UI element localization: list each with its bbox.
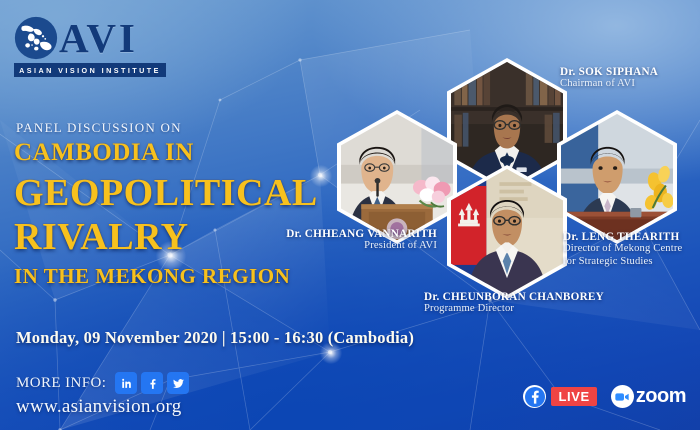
globe-icon (14, 16, 58, 60)
event-title: CAMBODIA IN GEOPOLITICAL RIVALRY IN THE … (14, 140, 334, 287)
speaker-photo-cheunboran-chanborey (447, 165, 567, 299)
speaker-name: Dr. SOK SIPHANA (560, 66, 658, 78)
zoom-camera-icon (611, 385, 634, 408)
more-info-label: MORE INFO: (16, 375, 106, 392)
logo-full-name: ASIAN VISION INSTITUTE (14, 63, 166, 77)
speaker-role: Director of Mekong Centre (563, 243, 682, 256)
speaker-caption-sok-siphana: Dr. SOK SIPHANA Chairman of AVI (560, 66, 658, 91)
zoom-logo[interactable]: zoom (611, 385, 686, 408)
event-datetime: Monday, 09 November 2020 | 15:00 - 16:30… (16, 328, 414, 348)
speaker-role: Programme Director (424, 303, 604, 316)
title-line-4: IN THE MEKONG REGION (14, 266, 334, 287)
zoom-label: zoom (636, 385, 686, 408)
title-line-1: CAMBODIA IN (14, 140, 334, 165)
speaker-photo-leng-thearith (557, 110, 677, 244)
speaker-role-line-2: for Strategic Studies (563, 256, 682, 269)
speaker-role: President of AVI (215, 240, 437, 253)
avi-logo: AVI ASIAN VISION INSTITUTE (14, 16, 166, 77)
logo-acronym: AVI (59, 19, 138, 58)
broadcast-badges: LIVE zoom (523, 385, 686, 408)
facebook-icon[interactable] (523, 385, 546, 408)
speaker-caption-leng-thearith: Dr. LENG THEARITH Director of Mekong Cen… (563, 231, 682, 268)
live-badge: LIVE (551, 387, 596, 406)
event-kicker: PANEL DISCUSSION ON (16, 120, 182, 136)
event-poster: AVI ASIAN VISION INSTITUTE PANEL DISCUSS… (0, 0, 700, 430)
website-url[interactable]: www.asianvision.org (16, 396, 182, 418)
linkedin-icon[interactable] (115, 372, 137, 394)
speaker-name: Dr. LENG THEARITH (563, 231, 682, 243)
speaker-photo-chheang-vannarith (337, 110, 457, 244)
speaker-name: Dr. CHHEANG VANNARITH (215, 228, 437, 240)
twitter-icon[interactable] (167, 372, 189, 394)
speaker-caption-chheang-vannarith: Dr. CHHEANG VANNARITH President of AVI (215, 228, 437, 253)
speaker-role: Chairman of AVI (560, 78, 658, 91)
facebook-icon[interactable] (141, 372, 163, 394)
speaker-caption-cheunboran-chanborey: Dr. CHEUNBORAN CHANBOREY Programme Direc… (424, 291, 604, 316)
title-line-2: GEOPOLITICAL (14, 174, 334, 212)
speaker-name: Dr. CHEUNBORAN CHANBOREY (424, 291, 604, 303)
more-info-row: MORE INFO: (16, 372, 193, 394)
